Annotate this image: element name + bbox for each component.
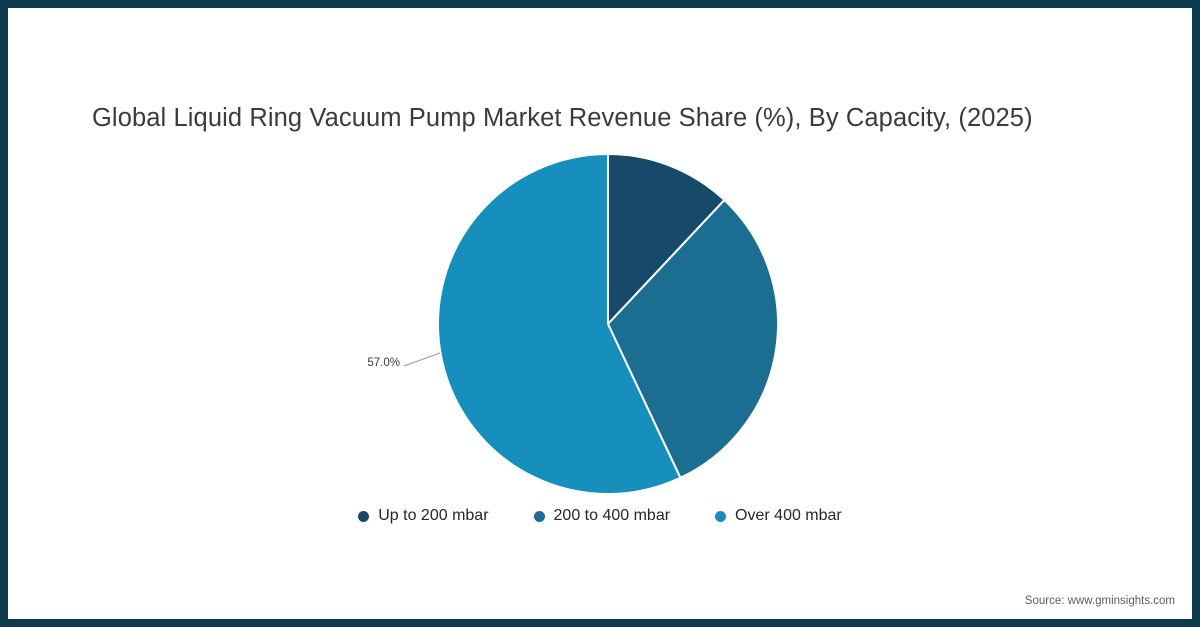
- legend-swatch-icon: [534, 511, 545, 522]
- chart-legend: Up to 200 mbar 200 to 400 mbar Over 400 …: [8, 507, 1192, 525]
- legend-label: Up to 200 mbar: [378, 507, 488, 525]
- legend-item-up-to-200-mbar[interactable]: Up to 200 mbar: [358, 507, 488, 525]
- legend-swatch-icon: [358, 511, 369, 522]
- legend-swatch-icon: [715, 511, 726, 522]
- legend-label: Over 400 mbar: [735, 507, 842, 525]
- pie-slices: [438, 154, 778, 494]
- pie-slice-label-over-400-mbar: 57.0%: [318, 357, 400, 369]
- source-attribution: Source: www.gminsights.com: [1025, 595, 1175, 607]
- pie-chart-svg: [8, 8, 1192, 619]
- leader-line-over-400-mbar: [404, 353, 440, 366]
- legend-item-200-to-400-mbar[interactable]: 200 to 400 mbar: [534, 507, 671, 525]
- legend-item-over-400-mbar[interactable]: Over 400 mbar: [715, 507, 842, 525]
- legend-label: 200 to 400 mbar: [554, 507, 671, 525]
- pie-plot-area: 57.0%: [8, 8, 1192, 619]
- chart-figure: Global Liquid Ring Vacuum Pump Market Re…: [0, 0, 1200, 627]
